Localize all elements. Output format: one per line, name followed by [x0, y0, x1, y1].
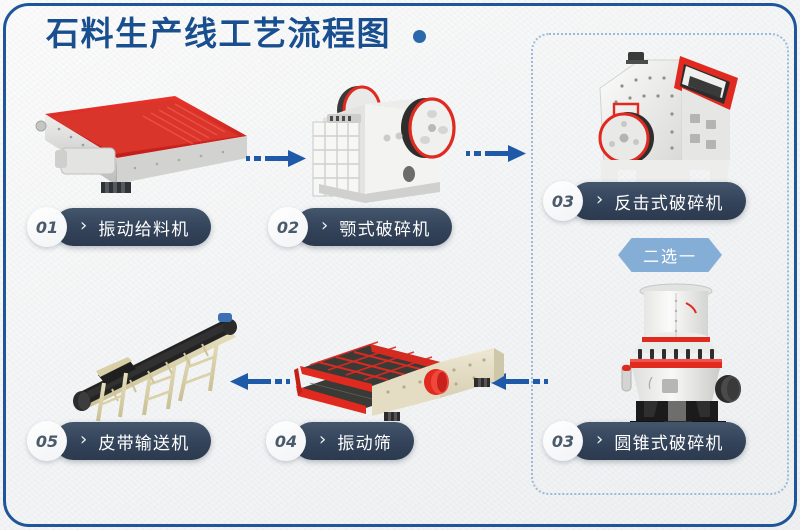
page-title: 石料生产线工艺流程图: [46, 14, 391, 54]
step-label-vibrating-feeder: 振动给料机: [54, 208, 211, 246]
cone-crusher-icon: [600, 283, 760, 431]
step-number-badge: 03: [543, 421, 583, 461]
bullet-dot-icon: [413, 30, 426, 43]
step-label-jaw-crusher: 颚式破碎机: [295, 208, 452, 246]
flowchart-canvas: 石料生产线工艺流程图: [0, 0, 800, 530]
arrow-jaw-to-impact: [466, 143, 528, 170]
step-label-belt-conveyor: 皮带输送机: [54, 422, 211, 460]
step-05[interactable]: 05 皮带输送机: [27, 422, 211, 460]
step-03-impact[interactable]: 03 反击式破碎机: [543, 182, 746, 220]
step-number-badge: 02: [268, 207, 308, 247]
vibrating-feeder-icon: [25, 92, 255, 202]
step-number-badge: 03: [543, 181, 583, 221]
arrow-feeder-to-jaw: [246, 148, 308, 175]
machine-vibrating-screen: [288, 312, 508, 424]
machine-belt-conveyor: [68, 305, 258, 427]
page-title-group: 石料生产线工艺流程图: [46, 14, 426, 54]
vibrating-screen-icon: [288, 312, 508, 424]
step-01[interactable]: 01 振动给料机: [27, 208, 211, 246]
step-number-badge: 05: [27, 421, 67, 461]
step-number-badge: 01: [27, 207, 67, 247]
step-02[interactable]: 02 颚式破碎机: [268, 208, 452, 246]
belt-conveyor-icon: [68, 305, 258, 427]
arrow-right-icon: [246, 148, 308, 170]
step-03-cone[interactable]: 03 圆锥式破碎机: [543, 422, 746, 460]
machine-impact-crusher: [570, 48, 770, 196]
machine-jaw-crusher: [305, 72, 470, 208]
impact-crusher-icon: [570, 48, 770, 196]
step-04[interactable]: 04 振动筛: [266, 422, 414, 460]
choose-one-badge: 二选一: [618, 238, 722, 272]
arrow-right-icon: [466, 143, 528, 165]
step-label-cone-crusher: 圆锥式破碎机: [570, 422, 746, 460]
machine-vibrating-feeder: [25, 92, 255, 202]
jaw-crusher-icon: [305, 72, 470, 208]
step-label-impact-crusher: 反击式破碎机: [570, 182, 746, 220]
step-number-badge: 04: [266, 421, 306, 461]
machine-cone-crusher: [600, 283, 760, 431]
step-label-vibrating-screen: 振动筛: [293, 422, 414, 460]
